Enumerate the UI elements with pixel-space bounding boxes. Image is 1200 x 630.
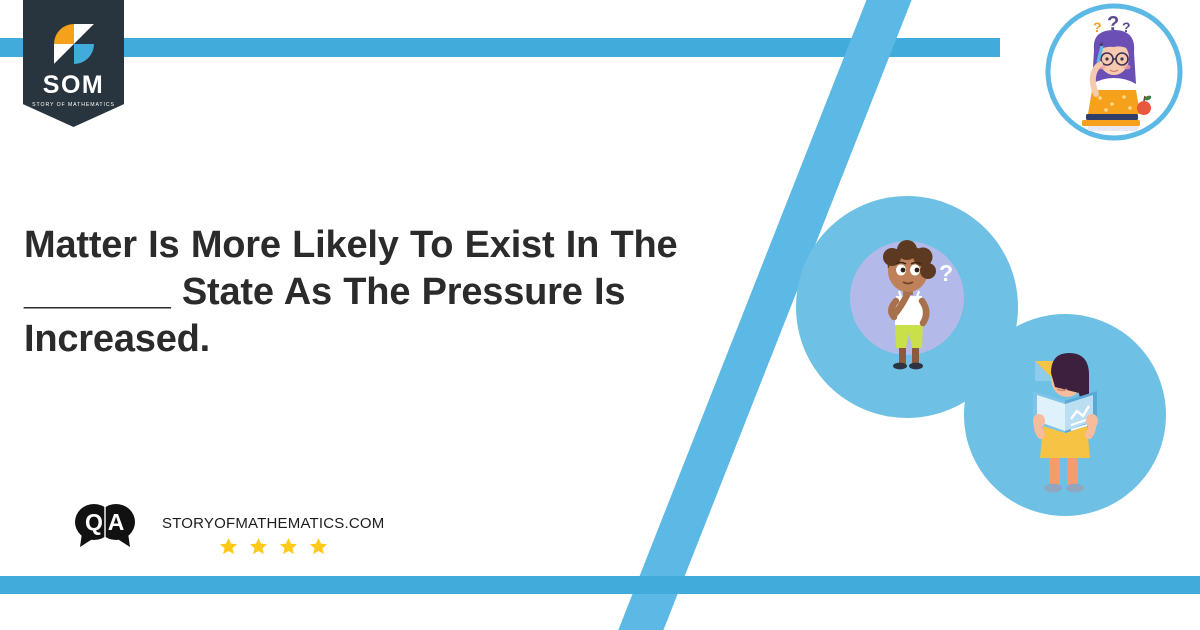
som-logo-tagline: STORY OF MATHEMATICS [32, 102, 115, 108]
som-logo[interactable]: SOM STORY OF MATHEMATICS [23, 0, 124, 127]
page-title: Matter Is More Likely To Exist In The __… [24, 222, 684, 363]
star-rating [219, 537, 328, 556]
site-url[interactable]: STORYOFMATHEMATICS.COM [162, 515, 384, 532]
star-icon [219, 537, 238, 556]
som-monogram-icon [52, 22, 96, 66]
footer-text-block: STORYOFMATHEMATICS.COM [162, 502, 384, 556]
star-icon [309, 537, 328, 556]
footer: Q A STORYOFMATHEMATICS.COM [74, 502, 384, 556]
svg-text:?: ? [1093, 19, 1102, 35]
bottom-accent-bar [0, 576, 1200, 594]
star-icon [249, 537, 268, 556]
svg-text:A: A [108, 509, 125, 535]
som-logo-text: SOM [43, 73, 104, 98]
woman-reading-book-illustration [963, 313, 1168, 518]
svg-text:Q: Q [85, 509, 103, 535]
poster-canvas: SOM STORY OF MATHEMATICS Matter Is More … [0, 0, 1200, 630]
svg-text:?: ? [939, 260, 953, 286]
star-icon [279, 537, 298, 556]
girl-with-glasses-thinking-illustration: ? ? ? [1044, 2, 1184, 142]
qa-speech-bubble-icon: Q A [74, 502, 136, 548]
